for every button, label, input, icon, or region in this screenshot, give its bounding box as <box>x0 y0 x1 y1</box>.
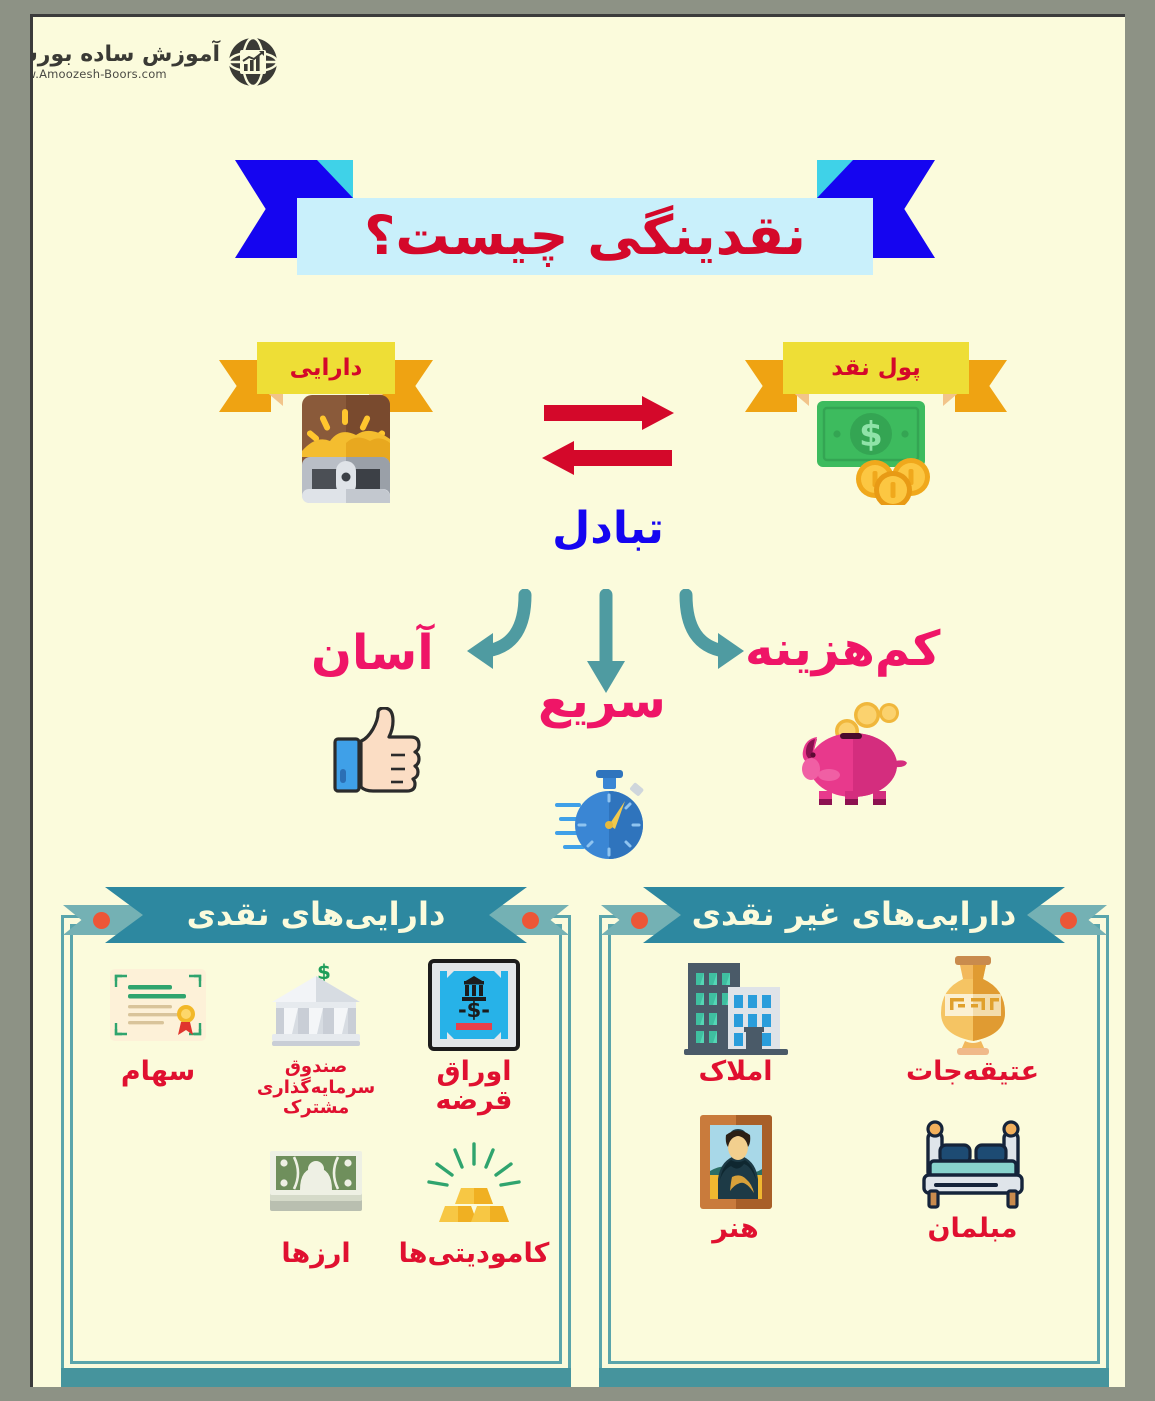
page-title: نقدینگی چیست؟ <box>364 209 806 263</box>
globe-chart-icon <box>227 36 279 88</box>
asset-label: مبلمان <box>927 1214 1017 1243</box>
panel-base-bar <box>599 1368 1109 1387</box>
brand-url: www.Amoozesh-Boors.com <box>30 69 167 81</box>
asset-item-commodities: کامودیتی‌ها <box>395 1141 553 1268</box>
asset-item-stocks: سهام <box>79 959 237 1119</box>
panel-title: دارایی‌های نقدی <box>187 898 446 930</box>
benefit-label-fast: سریع <box>538 677 666 725</box>
thumbs-up-icon <box>329 707 429 797</box>
asset-label: عتیقه‌جات <box>906 1057 1039 1086</box>
ribbon-body: پول نقد <box>783 342 969 394</box>
panel-title: دارایی‌های غیر نقدی <box>692 898 1017 930</box>
asset-label: املاک <box>698 1057 772 1086</box>
asset-item-art: هنر <box>617 1116 854 1243</box>
treasure-chest-icon <box>286 389 406 509</box>
asset-item-bonds: -$- اوراق قرضه <box>395 959 553 1119</box>
ribbon-dot-right <box>1060 912 1077 929</box>
asset-label: صندوق سرمایه‌گذاری مشترک <box>257 1057 375 1119</box>
stopwatch-icon <box>555 765 651 867</box>
asset-label: اوراق قرضه <box>395 1057 553 1115</box>
bond-certificate-icon: -$- <box>428 959 520 1051</box>
bank-building-icon: $ <box>268 959 364 1051</box>
asset-label: ارزها <box>281 1239 350 1268</box>
ribbon-body: دارایی‌های نقدی <box>105 887 527 943</box>
panel-base-bar <box>61 1368 571 1387</box>
asset-item-real-estate: املاک <box>617 959 854 1086</box>
panel-ribbon-header: دارایی‌های غیر نقدی <box>615 887 1093 943</box>
ribbon-dot-left <box>631 912 648 929</box>
brand-logo: آموزش ساده بورس www.Amoozesh-Boors.com <box>49 31 279 93</box>
title-banner-body: نقدینگی چیست؟ <box>297 198 873 275</box>
infographic-page: آموزش ساده بورس www.Amoozesh-Boors.com ن… <box>30 14 1125 1387</box>
asset-item-currencies: ارزها <box>237 1141 395 1268</box>
asset-item-mutual-fund: $ <box>237 959 395 1119</box>
antique-vase-icon <box>935 959 1011 1051</box>
asset-ribbon-label: دارایی <box>290 357 363 380</box>
brand-name: آموزش ساده بورس <box>30 44 220 66</box>
panel-non-liquid-assets: دارایی‌های غیر نقدی <box>599 915 1109 1373</box>
curved-left-arrow-icon <box>467 595 525 669</box>
two-way-exchange-arrows-icon <box>538 395 678 485</box>
cash-ribbon: پول نقد <box>745 342 1007 400</box>
benefit-label-easy: آسان <box>311 629 434 677</box>
asset-item-furniture: مبلمان <box>854 1116 1091 1243</box>
piggy-bank-icon <box>795 695 911 807</box>
benefit-label-low-cost: کم‌هزینه <box>745 625 940 673</box>
non-liquid-assets-grid: عتیقه‌جات <box>617 959 1091 1359</box>
ribbon-dot-left <box>93 912 110 929</box>
asset-label: کامودیتی‌ها <box>399 1239 550 1268</box>
brand-wordmark: آموزش ساده بورس www.Amoozesh-Boors.com <box>30 44 220 81</box>
svg-text:$: $ <box>859 415 883 455</box>
asset-label: هنر <box>712 1214 759 1243</box>
cash-ribbon-label: پول نقد <box>831 357 921 380</box>
cash-money-icon: $ <box>815 395 943 505</box>
panel-ribbon-header: دارایی‌های نقدی <box>77 887 555 943</box>
title-banner: نقدینگی چیست؟ <box>235 130 935 275</box>
curved-right-arrow-icon <box>686 595 744 669</box>
asset-label: سهام <box>121 1057 195 1086</box>
ribbon-dot-right <box>522 912 539 929</box>
liquid-assets-grid: -$- اوراق قرضه $ <box>79 959 553 1359</box>
office-buildings-icon <box>684 959 788 1051</box>
asset-item-antiques: عتیقه‌جات <box>854 959 1091 1086</box>
framed-painting-icon <box>698 1116 774 1208</box>
stock-certificate-icon <box>108 959 208 1051</box>
gold-bars-icon <box>423 1141 525 1233</box>
exchange-caption: تبادل <box>503 507 713 551</box>
ribbon-body: دارایی <box>257 342 395 394</box>
banknote-icon <box>268 1141 364 1233</box>
panel-liquid-assets: دارایی‌های نقدی <box>61 915 571 1373</box>
ribbon-body: دارایی‌های غیر نقدی <box>643 887 1065 943</box>
bed-furniture-icon <box>920 1116 1026 1208</box>
svg-text:-$-: -$- <box>458 998 490 1022</box>
